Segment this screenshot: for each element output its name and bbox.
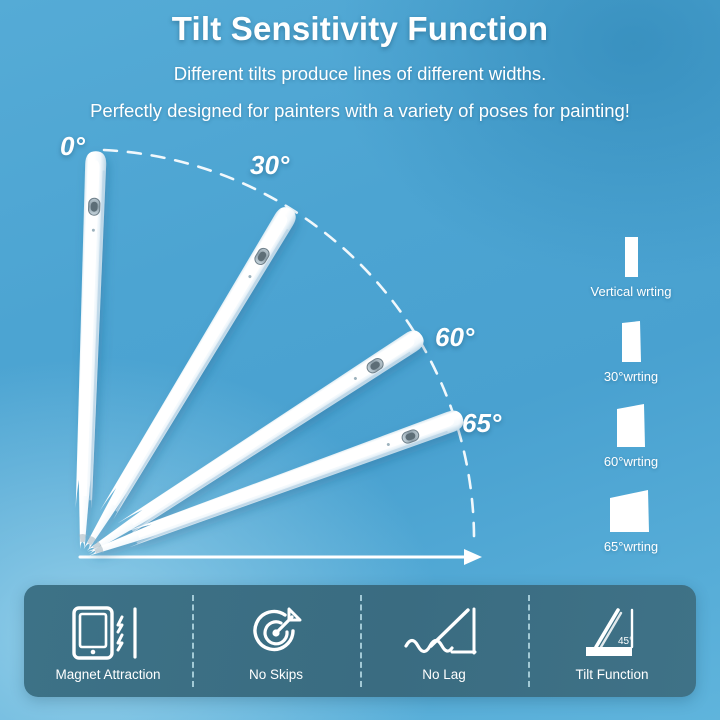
stroke-swatch-vertical — [611, 234, 651, 280]
pen-0-degree — [72, 151, 107, 549]
legend-item-30: 30°wrting — [556, 313, 706, 398]
legend-item-60: 60°wrting — [556, 398, 706, 483]
stroke-swatch-30 — [609, 319, 653, 365]
pen-30-degree — [77, 203, 300, 555]
feature-label-magnet: Magnet Attraction — [55, 667, 160, 682]
legend-item-vertical: Vertical wrting — [556, 228, 706, 313]
tilt-angle-badge: 45° — [618, 636, 633, 647]
feature-no-lag[interactable]: No Lag — [360, 585, 528, 697]
stroke-swatch-65 — [602, 487, 660, 535]
product-infographic: Tilt Sensitivity Function Different tilt… — [0, 0, 720, 720]
tilt-pen-angle-icon: 45° — [576, 606, 648, 660]
stroke-swatch-60 — [606, 402, 656, 450]
angle-label-30: 30° — [250, 150, 289, 181]
legend-label-vertical: Vertical wrting — [556, 284, 706, 299]
tablet-magnet-icon — [71, 606, 145, 660]
feature-magnet-attraction[interactable]: Magnet Attraction — [24, 585, 192, 697]
baseline-arrow — [80, 549, 482, 565]
feature-tilt-function[interactable]: 45° Tilt Function — [528, 585, 696, 697]
angle-label-65: 65° — [462, 408, 501, 439]
feature-label-no-lag: No Lag — [422, 667, 466, 682]
feature-label-no-skips: No Skips — [249, 667, 303, 682]
stroke-width-legend: Vertical wrting 30°wrting 60°wrting — [556, 228, 706, 568]
feature-no-skips[interactable]: No Skips — [192, 585, 360, 697]
legend-label-30: 30°wrting — [556, 369, 706, 384]
legend-label-60: 60°wrting — [556, 454, 706, 469]
waveform-pen-icon — [404, 606, 484, 660]
feature-label-tilt: Tilt Function — [575, 667, 648, 682]
target-arrow-icon — [247, 606, 305, 660]
legend-label-65: 65°wrting — [556, 539, 706, 554]
angle-label-60: 60° — [435, 322, 474, 353]
feature-bar: Magnet Attraction No Skips — [24, 585, 696, 697]
legend-item-65: 65°wrting — [556, 483, 706, 568]
angle-label-0: 0° — [60, 131, 85, 162]
